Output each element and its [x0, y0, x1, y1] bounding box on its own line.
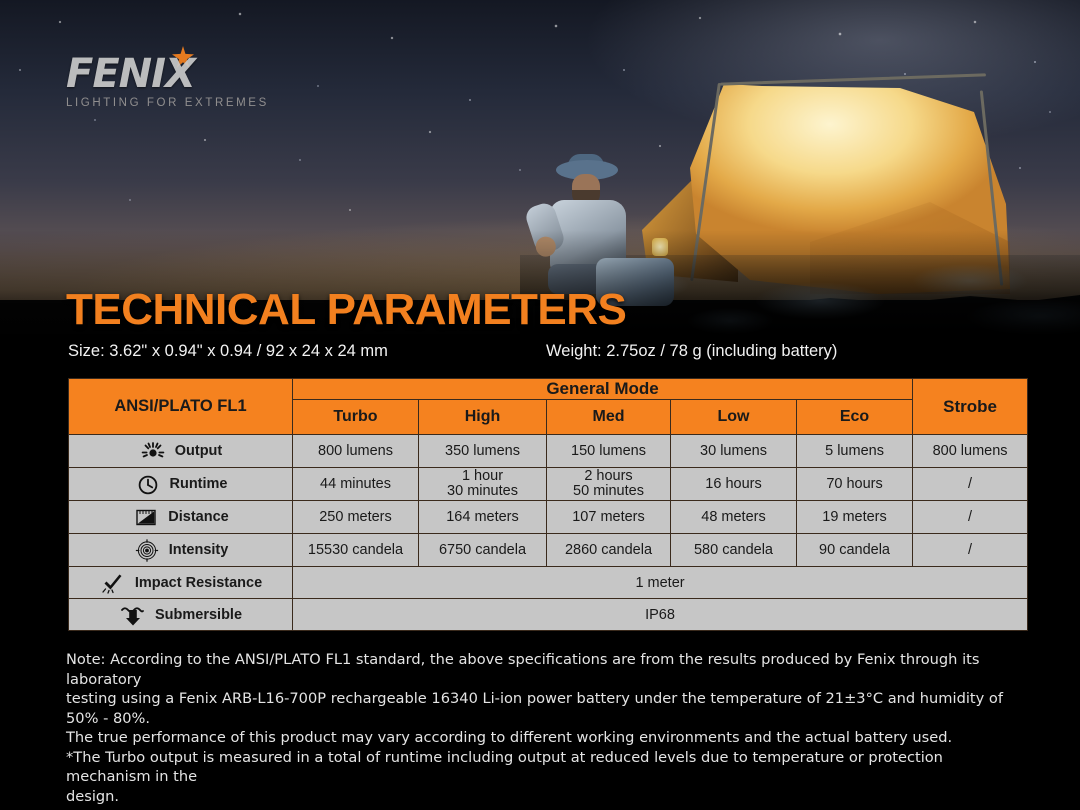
cell-distance-med: 107 meters	[547, 501, 671, 534]
cell-intensity-turbo: 15530 candela	[293, 534, 419, 567]
cell-output-low: 30 lumens	[671, 435, 797, 468]
cell-output-high: 350 lumens	[419, 435, 547, 468]
cell-impact-resistance-value: 1 meter	[293, 567, 1028, 599]
tent-ridge-pole	[720, 73, 986, 85]
cell-distance-high: 164 meters	[419, 501, 547, 534]
cell-distance-strobe: /	[913, 501, 1028, 534]
table-row: Distance 250 meters 164 meters 107 meter…	[69, 501, 1028, 534]
cell-intensity-med: 2860 candela	[547, 534, 671, 567]
note-block: Note: According to the ANSI/PLATO FL1 st…	[66, 650, 1016, 806]
row-label-text: Runtime	[170, 476, 228, 492]
header-mode-eco: Eco	[797, 400, 913, 435]
sunburst-icon	[139, 439, 167, 463]
weight-spec: Weight: 2.75oz / 78 g (including battery…	[546, 342, 837, 361]
header-strobe: Strobe	[913, 379, 1028, 435]
technical-parameters-page: FENIX LIGHTING FOR EXTREMES TECHNICAL PA…	[0, 0, 1080, 810]
note-line-3: The true performance of this product may…	[66, 728, 1016, 748]
header-ansi-plato: ANSI/PLATO FL1	[69, 379, 293, 435]
cell-intensity-eco: 90 candela	[797, 534, 913, 567]
impact-drop-icon	[99, 571, 127, 595]
fenix-logo: FENIX LIGHTING FOR EXTREMES	[66, 52, 306, 114]
cell-runtime-turbo: 44 minutes	[293, 468, 419, 501]
table-row: Intensity 15530 candela 6750 candela 286…	[69, 534, 1028, 567]
cell-runtime-med: 2 hours50 minutes	[547, 468, 671, 501]
cell-distance-low: 48 meters	[671, 501, 797, 534]
cell-submersible-value: IP68	[293, 599, 1028, 631]
beam-distance-icon	[132, 505, 160, 529]
row-label-text: Distance	[168, 509, 228, 525]
row-label-text: Submersible	[155, 607, 242, 623]
header-mode-low: Low	[671, 400, 797, 435]
cell-runtime-eco: 70 hours	[797, 468, 913, 501]
note-line-5: design.	[66, 787, 1016, 807]
page-title: TECHNICAL PARAMETERS	[66, 285, 626, 335]
row-label-distance: Distance	[69, 501, 293, 534]
cell-distance-eco: 19 meters	[797, 501, 913, 534]
header-general-mode: General Mode	[293, 379, 913, 400]
header-mode-high: High	[419, 400, 547, 435]
cell-runtime-high: 1 hour30 minutes	[419, 468, 547, 501]
submersible-icon	[119, 603, 147, 627]
header-mode-med: Med	[547, 400, 671, 435]
cell-output-turbo: 800 lumens	[293, 435, 419, 468]
header-mode-turbo: Turbo	[293, 400, 419, 435]
size-spec: Size: 3.62" x 0.94" x 0.94 / 92 x 24 x 2…	[68, 342, 388, 361]
cell-distance-turbo: 250 meters	[293, 501, 419, 534]
cell-output-med: 150 lumens	[547, 435, 671, 468]
row-label-text: Impact Resistance	[135, 575, 262, 591]
note-line-4: *The Turbo output is measured in a total…	[66, 748, 1016, 787]
table-row: Impact Resistance 1 meter	[69, 567, 1028, 599]
cell-runtime-strobe: /	[913, 468, 1028, 501]
cell-intensity-strobe: /	[913, 534, 1028, 567]
target-icon	[133, 538, 161, 562]
table-row: Output 800 lumens 350 lumens 150 lumens …	[69, 435, 1028, 468]
specs-table: ANSI/PLATO FL1 General Mode Strobe Turbo…	[68, 378, 1028, 631]
cell-output-strobe: 800 lumens	[913, 435, 1028, 468]
logo-tagline: LIGHTING FOR EXTREMES	[66, 97, 306, 109]
row-label-output: Output	[69, 435, 293, 468]
row-label-runtime: Runtime	[69, 468, 293, 501]
row-label-impact-resistance: Impact Resistance	[69, 567, 293, 599]
table-row: Runtime 44 minutes 1 hour30 minutes 2 ho…	[69, 468, 1028, 501]
table-header-row-1: ANSI/PLATO FL1 General Mode Strobe	[69, 379, 1028, 400]
cell-intensity-low: 580 candela	[671, 534, 797, 567]
row-label-intensity: Intensity	[69, 534, 293, 567]
cell-intensity-high: 6750 candela	[419, 534, 547, 567]
row-label-text: Intensity	[169, 542, 229, 558]
cell-output-eco: 5 lumens	[797, 435, 913, 468]
logo-wordmark: FENIX	[66, 52, 306, 96]
clock-icon	[134, 472, 162, 496]
row-label-text: Output	[175, 443, 223, 459]
note-line-2: testing using a Fenix ARB-L16-700P recha…	[66, 689, 1016, 728]
note-line-1: Note: According to the ANSI/PLATO FL1 st…	[66, 650, 1016, 689]
row-label-submersible: Submersible	[69, 599, 293, 631]
cell-runtime-low: 16 hours	[671, 468, 797, 501]
table-row: Submersible IP68	[69, 599, 1028, 631]
